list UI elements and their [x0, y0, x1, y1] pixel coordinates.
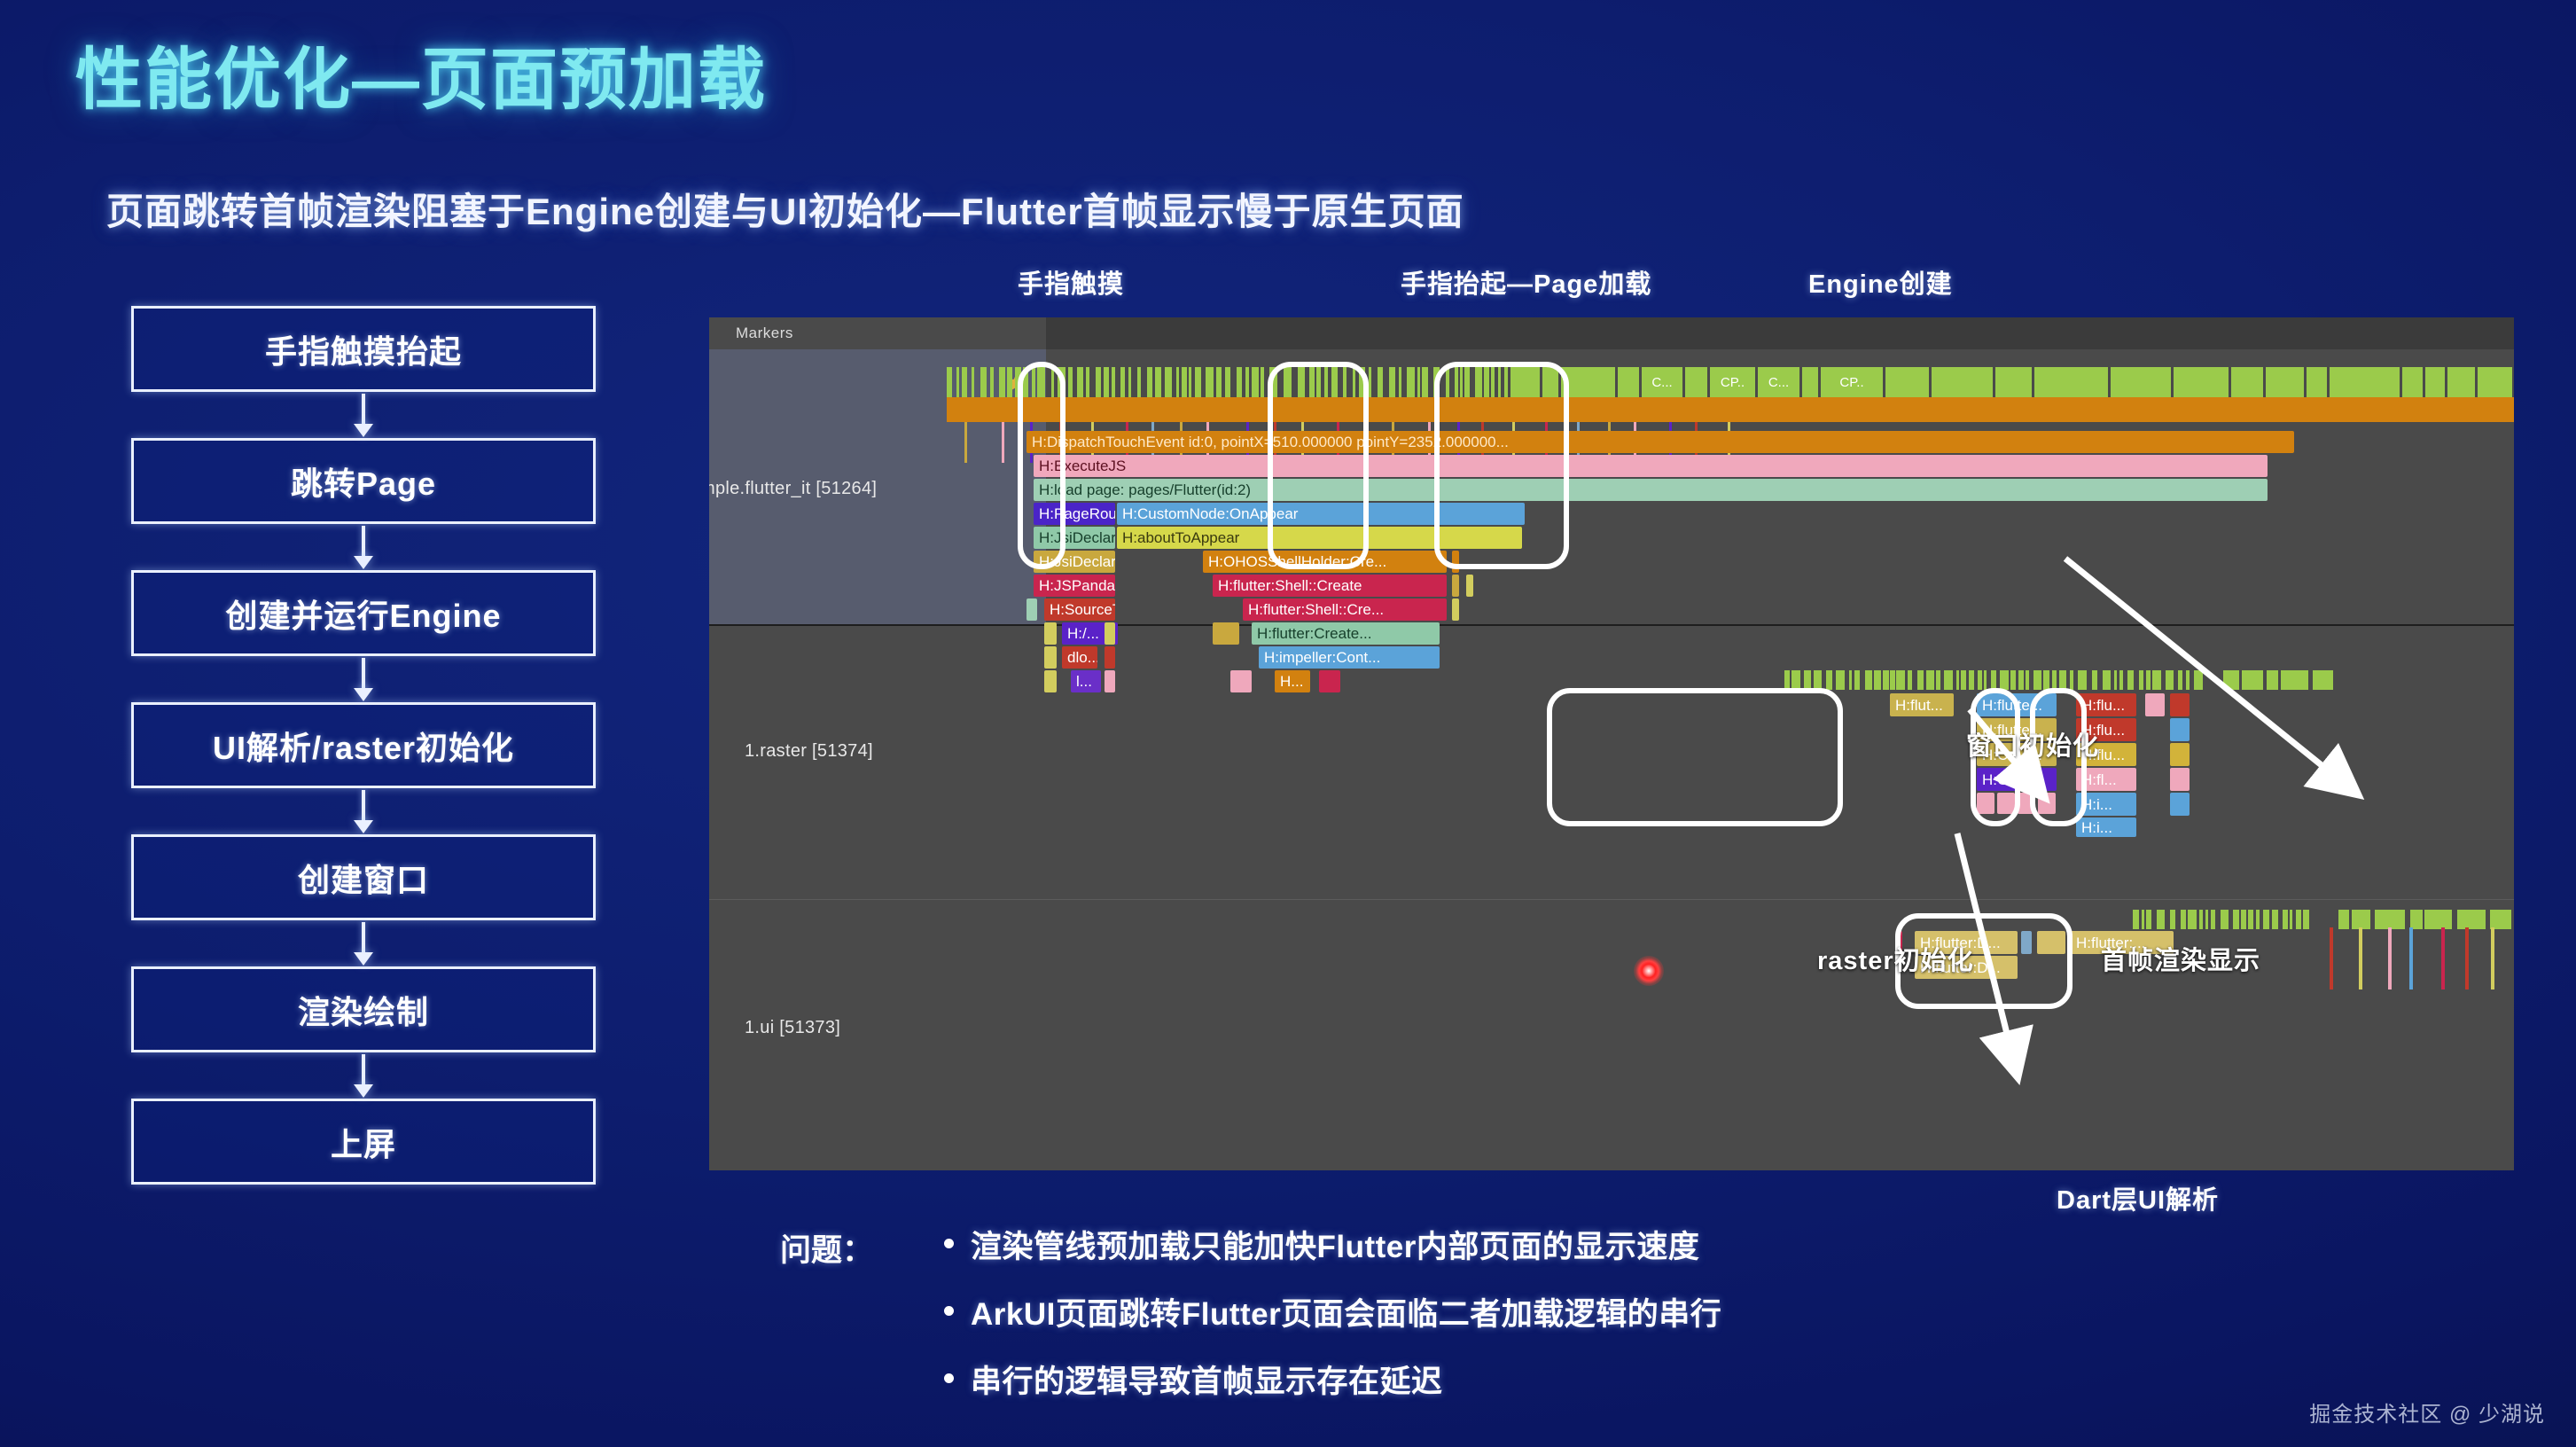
marker-tick — [956, 367, 959, 397]
flow-step-1: 跳转Page — [131, 438, 596, 524]
marker-tick — [1058, 367, 1066, 397]
marker-tick — [2146, 670, 2151, 690]
marker-tick — [1969, 670, 1974, 690]
trace-tick — [2388, 927, 2392, 989]
marker-tick — [1475, 367, 1482, 397]
marker-tick — [1176, 367, 1179, 397]
marker-tick — [2142, 910, 2144, 929]
trace-span-small[interactable] — [2018, 793, 2035, 814]
marker-tick — [1422, 367, 1428, 397]
marker-tick — [1978, 670, 1982, 690]
marker-tick — [1120, 367, 1125, 397]
marker-tick — [2181, 910, 2186, 929]
marker-tick — [1407, 367, 1415, 397]
trace-span-small[interactable] — [1044, 622, 1057, 645]
markers-orange-band — [947, 397, 2514, 422]
marker-tick — [1908, 670, 1912, 690]
marker-chip[interactable] — [2478, 367, 2512, 397]
marker-chip[interactable] — [1514, 367, 1540, 397]
marker-tick — [1814, 670, 1822, 690]
marker-tick — [1037, 367, 1045, 397]
marker-tick — [1128, 367, 1131, 397]
problems-list: 问题： 渲染管线预加载只能加快Flutter内部页面的显示速度 ArkUI页面跳… — [780, 1222, 1721, 1424]
annotation-touch-up-page: 手指抬起—Page加载 — [1401, 263, 1651, 301]
marker-tick — [1104, 367, 1109, 397]
trace-tick — [2441, 927, 2445, 989]
trace-span-small[interactable] — [1452, 575, 1459, 597]
marker-tick — [1284, 367, 1292, 397]
trace-span-small[interactable] — [2170, 768, 2190, 791]
marker-chip[interactable]: CP.. — [1710, 367, 1755, 397]
marker-tick — [1096, 367, 1101, 397]
marker-tick — [2248, 910, 2253, 929]
marker-tick — [2199, 910, 2203, 929]
trace-span-small[interactable] — [1044, 670, 1057, 692]
marker-tick — [1245, 367, 1249, 397]
trace-span-small[interactable] — [1452, 598, 1459, 621]
trace-span-sourcetext[interactable]: H:SourceText... — [1044, 598, 1115, 621]
marker-tick — [1484, 367, 1489, 397]
marker-tick — [1784, 670, 1790, 690]
flow-arrow-3 — [131, 788, 596, 834]
marker-tick — [2103, 670, 2111, 690]
marker-tick — [2178, 670, 2182, 690]
problem-text: 渲染管线预加载只能加快Flutter内部页面的显示速度 — [971, 1230, 1699, 1264]
marker-tick — [2033, 670, 2041, 690]
flow-arrow-1 — [131, 524, 596, 570]
marker-tick — [1417, 367, 1420, 397]
trace-tick — [1002, 422, 1004, 463]
trace-span-raster-fl[interactable]: H:fl... — [2076, 768, 2136, 791]
marker-tick — [1182, 367, 1187, 397]
trace-span-l[interactable]: l... — [1071, 670, 1101, 692]
watermark: 掘金技术社区 @ 少湖说 — [2309, 1396, 2545, 1427]
trace-span-raster-flutter-1[interactable]: H:flutte... — [1977, 693, 2057, 716]
trace-span-dispatchtouchevent[interactable]: H:DispatchTouchEvent id:0, pointX=510.00… — [1026, 431, 2294, 453]
marker-tick — [2242, 670, 2263, 690]
marker-chip[interactable] — [2174, 367, 2229, 397]
marker-tick — [2133, 910, 2139, 929]
trace-span-small[interactable] — [1319, 670, 1340, 692]
trace-span-small[interactable] — [1044, 646, 1057, 669]
marker-tick — [1032, 367, 1035, 397]
trace-span-h[interactable]: H... — [1275, 670, 1310, 692]
marker-tick — [2205, 910, 2208, 929]
marker-tick — [1023, 367, 1028, 397]
trace-span-flutter-create[interactable]: H:flutter:Create... — [1252, 622, 1440, 645]
marker-tick — [1886, 670, 1889, 690]
annotation-raster-init: raster初始化 — [1817, 940, 1974, 977]
annotation-window-init: 窗口初始化 — [1966, 725, 2099, 763]
marker-tick — [2267, 670, 2278, 690]
marker-tick — [2188, 910, 2197, 929]
trace-span-raster-i-2[interactable]: H:i... — [2076, 817, 2136, 837]
marker-tick — [1991, 670, 1996, 690]
marker-tick — [1900, 670, 1903, 690]
marker-chip[interactable] — [2330, 367, 2400, 397]
trace-span-customnode-onappear[interactable]: H:CustomNode:OnAppear — [1117, 503, 1525, 525]
marker-tick — [947, 367, 952, 397]
annotation-first-frame: 首帧渲染显示 — [2101, 940, 2260, 977]
marker-tick — [2114, 670, 2117, 690]
trace-span-jsideclarative-2[interactable]: H:JsiDeclarative... — [1034, 551, 1115, 573]
annotation-touch-down: 手指触摸 — [1018, 263, 1124, 301]
marker-tick — [2233, 910, 2239, 929]
problem-item-0: 渲染管线预加载只能加快Flutter内部页面的显示速度 — [780, 1222, 1721, 1267]
annotation-dart-ui-parse: Dart层UI解析 — [2057, 1179, 2219, 1216]
trace-span-abouttoappear[interactable]: H:aboutToAppear — [1117, 527, 1522, 549]
trace-span-small[interactable] — [1105, 646, 1115, 669]
trace-span-small[interactable] — [2145, 693, 2165, 716]
marker-tick — [1804, 670, 1811, 690]
marker-tick — [2272, 910, 2278, 929]
marker-tick — [1936, 670, 1940, 690]
trace-span-dlopen[interactable]: dlo... — [1062, 646, 1097, 669]
marker-tick — [1316, 367, 1321, 397]
trace-span-small[interactable] — [1230, 670, 1252, 692]
marker-tick — [1464, 367, 1470, 397]
marker-chip[interactable]: C... — [1758, 367, 1799, 397]
trace-tick — [2409, 927, 2413, 989]
marker-tick — [1874, 670, 1881, 690]
marker-tick — [1309, 367, 1315, 397]
marker-chip[interactable] — [1561, 367, 1615, 397]
marker-tick — [1015, 367, 1021, 397]
marker-tick — [2303, 910, 2309, 929]
flow-step-5: 渲染绘制 — [131, 966, 596, 1052]
flow-step-4: 创建窗口 — [131, 834, 596, 920]
page-title: 性能优化—页面预加载 — [75, 25, 767, 122]
trace-span-small[interactable] — [1977, 793, 1994, 814]
bullet-dot — [944, 1306, 954, 1316]
marker-tick — [1206, 367, 1214, 397]
marker-tick — [2092, 670, 2097, 690]
marker-tick — [2157, 910, 2165, 929]
marker-tick — [1498, 367, 1501, 397]
marker-chip[interactable]: C... — [1642, 367, 1682, 397]
marker-tick — [2490, 910, 2511, 929]
trace-span-small[interactable] — [1466, 575, 1473, 597]
trace-span-raster-flut[interactable]: H:flut... — [1890, 693, 1954, 716]
problem-item-2: 串行的逻辑导致首帧显示存在延迟 — [780, 1357, 1721, 1402]
marker-chip[interactable] — [1932, 367, 1993, 397]
marker-tick — [2338, 910, 2349, 929]
cursor-dot — [1634, 956, 1664, 986]
marker-tick — [1926, 670, 1934, 690]
marker-chip[interactable] — [1885, 367, 1929, 397]
trace-span-small[interactable] — [1026, 598, 1037, 621]
marker-tick — [2457, 910, 2486, 929]
marker-tick — [962, 367, 967, 397]
marker-tick — [2263, 910, 2269, 929]
trace-span-raster-create-2[interactable]: H:Cre... — [1977, 768, 2057, 791]
trace-span-loadpage[interactable]: H:load page: pages/Flutter(id:2) — [1034, 479, 2268, 501]
trace-viewer-panel[interactable]: Markers mple.flutter_it [51264] 1.raster… — [709, 317, 2514, 1170]
problem-item-1: ArkUI页面跳转Flutter页面会面临二者加载逻辑的串行 — [780, 1289, 1721, 1334]
marker-tick — [1865, 670, 1872, 690]
marker-tick — [2043, 670, 2049, 690]
trace-span-small[interactable] — [2170, 718, 2190, 741]
page-subtitle: 页面跳转首帧渲染阻塞于Engine创建与UI初始化—Flutter首帧显示慢于原… — [106, 182, 1464, 236]
bullet-dot — [944, 1239, 954, 1248]
marker-tick — [980, 367, 987, 397]
trace-span-ohosshellholder-create[interactable]: H:OHOSShellHolder:Cre... — [1203, 551, 1447, 573]
marker-tick — [1892, 670, 1895, 690]
marker-chip[interactable] — [2425, 367, 2445, 397]
marker-tick — [2186, 670, 2190, 690]
trace-row-label-ui: 1.ui [51373] — [745, 1018, 840, 1038]
trace-span-flutter-shell-create[interactable]: H:flutter:Shell::Create — [1213, 575, 1447, 597]
marker-chip[interactable] — [1685, 367, 1707, 397]
marker-tick — [1165, 367, 1172, 397]
marker-chip[interactable] — [1995, 367, 2032, 397]
marker-tick — [1399, 367, 1401, 397]
marker-tick — [2296, 910, 2301, 929]
marker-chip[interactable] — [1802, 367, 1818, 397]
flow-arrow-0 — [131, 392, 596, 438]
marker-tick — [999, 367, 1005, 397]
marker-tick — [972, 367, 974, 397]
marker-tick — [2119, 670, 2123, 690]
trace-span-small[interactable] — [2038, 793, 2056, 814]
marker-tick — [1826, 670, 1832, 690]
marker-tick — [1961, 670, 1966, 690]
marker-tick — [2152, 670, 2161, 690]
trace-span-pageroutermanager[interactable]: H:PageRouterM... — [1034, 503, 1115, 525]
flow-arrow-5 — [131, 1052, 596, 1099]
trace-tick — [964, 422, 967, 463]
marker-tick — [1504, 367, 1508, 397]
marker-tick — [1051, 367, 1054, 397]
marker-tick — [1298, 367, 1305, 397]
trace-span-small[interactable] — [2021, 931, 2032, 954]
marker-tick — [1455, 367, 1458, 397]
marker-tick — [2170, 910, 2175, 929]
marker-tick — [1369, 367, 1371, 397]
marker-tick — [2127, 670, 2134, 690]
marker-tick — [1343, 367, 1347, 397]
trace-span-small[interactable] — [1997, 793, 2015, 814]
marker-tick — [1195, 367, 1201, 397]
marker-tick — [1155, 367, 1161, 397]
marker-tick — [2026, 670, 2029, 690]
flow-step-0: 手指触摸抬起 — [131, 306, 596, 392]
trace-row-label-raster: 1.raster [51374] — [745, 741, 873, 762]
marker-tick — [1068, 367, 1073, 397]
trace-tick — [2465, 927, 2469, 989]
marker-tick — [1491, 367, 1495, 397]
marker-tick — [2166, 670, 2174, 690]
marker-tick — [2283, 910, 2288, 929]
flow-step-2: 创建并运行Engine — [131, 570, 596, 656]
marker-tick — [2078, 670, 2087, 690]
marker-tick — [1225, 367, 1230, 397]
marker-tick — [2010, 670, 2016, 690]
marker-tick — [2256, 910, 2260, 929]
marker-tick — [1147, 367, 1152, 397]
marker-chip[interactable] — [1542, 367, 1558, 397]
marker-tick — [2221, 910, 2229, 929]
marker-tick — [1269, 367, 1277, 397]
marker-tick — [1007, 367, 1012, 397]
marker-tick — [2070, 670, 2073, 690]
trace-tick — [2359, 927, 2362, 989]
trace-span-small[interactable] — [2170, 793, 2190, 816]
marker-tick — [2313, 670, 2333, 690]
flow-arrow-2 — [131, 656, 596, 702]
marker-chip[interactable]: CP.. — [1821, 367, 1883, 397]
trace-row-label-main: mple.flutter_it [51264] — [709, 479, 877, 499]
trace-span-small[interactable] — [2170, 743, 2190, 766]
marker-tick — [1917, 670, 1924, 690]
marker-chip[interactable] — [2111, 367, 2171, 397]
flow-step-6: 上屏 — [131, 1099, 596, 1185]
marker-chip[interactable] — [1618, 367, 1639, 397]
marker-tick — [1077, 367, 1083, 397]
marker-chip[interactable] — [2266, 367, 2304, 397]
marker-tick — [1836, 670, 1845, 690]
flow-chart: 手指触摸抬起 跳转Page 创建并运行Engine UI解析/raster初始化… — [131, 306, 596, 1185]
marker-tick — [1460, 367, 1463, 397]
marker-tick — [2352, 910, 2370, 929]
marker-tick — [1389, 367, 1395, 397]
marker-chip[interactable] — [2402, 367, 2423, 397]
marker-tick — [2375, 910, 2405, 929]
marker-tick — [1791, 670, 1800, 690]
marker-tick — [1849, 670, 1852, 690]
trace-span-small[interactable] — [1105, 670, 1115, 692]
trace-span-impeller-context[interactable]: H:impeller:Cont... — [1259, 646, 1440, 669]
annotation-engine-create: Engine创建 — [1808, 263, 1953, 301]
marker-tick — [1956, 670, 1959, 690]
marker-tick — [2281, 670, 2308, 690]
marker-tick — [1261, 367, 1264, 397]
trace-span-small[interactable] — [1452, 551, 1459, 573]
marker-tick — [990, 367, 994, 397]
trace-tick — [2330, 927, 2333, 989]
marker-tick — [2139, 670, 2143, 690]
marker-tick — [1446, 367, 1449, 397]
flow-arrow-4 — [131, 920, 596, 966]
flow-step-3: UI解析/raster初始化 — [131, 702, 596, 788]
trace-span-small[interactable] — [1105, 622, 1115, 645]
marker-tick — [1359, 367, 1365, 397]
problem-text: ArkUI页面跳转Flutter页面会面临二者加载逻辑的串行 — [971, 1297, 1721, 1332]
trace-span-small[interactable] — [1213, 622, 1239, 645]
problem-text: 串行的逻辑导致首帧显示存在延迟 — [971, 1365, 1443, 1399]
marker-tick — [1433, 367, 1440, 397]
marker-tick — [1944, 670, 1953, 690]
marker-tick — [2000, 670, 2009, 690]
trace-span-raster-i-1[interactable]: H:i... — [2076, 793, 2136, 816]
marker-tick — [1137, 367, 1141, 397]
trace-main-content: C...CP..C...CP.. H:DispatchTouchEvent id… — [947, 317, 2514, 1170]
marker-tick — [1324, 367, 1328, 397]
marker-chip[interactable] — [2034, 367, 2108, 397]
marker-tick — [1854, 670, 1860, 690]
marker-tick — [2223, 670, 2239, 690]
marker-tick — [2424, 910, 2452, 929]
trace-span-executejs[interactable]: H:ExecuteJS — [1034, 455, 2268, 477]
trace-span-flutter-shell-create-2[interactable]: H:flutter:Shell::Cre... — [1243, 598, 1447, 621]
marker-tick — [2018, 670, 2024, 690]
bullet-dot — [944, 1373, 954, 1383]
marker-tick — [1331, 367, 1338, 397]
trace-span-small[interactable] — [2170, 693, 2190, 716]
marker-tick — [2052, 670, 2057, 690]
marker-tick — [2194, 670, 2203, 690]
marker-tick — [1216, 367, 1222, 397]
marker-tick — [1112, 367, 1115, 397]
marker-tick — [2211, 910, 2215, 929]
marker-tick — [1353, 367, 1355, 397]
marker-tick — [2059, 670, 2066, 690]
marker-tick — [1252, 367, 1259, 397]
marker-tick — [1189, 367, 1191, 397]
trace-span-jspandafileex[interactable]: H:JSPandaFileEx... — [1034, 575, 1115, 597]
marker-tick — [1378, 367, 1383, 397]
trace-span-jsideclarative-1[interactable]: H:JsiDeclarative... — [1034, 527, 1115, 549]
trace-span-raster-flu-1[interactable]: H:flu... — [2076, 693, 2136, 716]
marker-chip[interactable] — [2307, 367, 2327, 397]
marker-tick — [2410, 910, 2423, 929]
marker-tick — [1984, 670, 1987, 690]
marker-tick — [1086, 367, 1089, 397]
trace-tick — [2491, 927, 2494, 989]
marker-chip[interactable] — [2231, 367, 2263, 397]
trace-span-small[interactable] — [2037, 931, 2065, 954]
marker-tick — [2146, 910, 2151, 929]
marker-tick — [2290, 910, 2292, 929]
marker-tick — [1237, 367, 1242, 397]
marker-tick — [2241, 910, 2246, 929]
marker-chip[interactable] — [2447, 367, 2475, 397]
markers-green-band: C...CP..C...CP.. — [947, 367, 2514, 397]
